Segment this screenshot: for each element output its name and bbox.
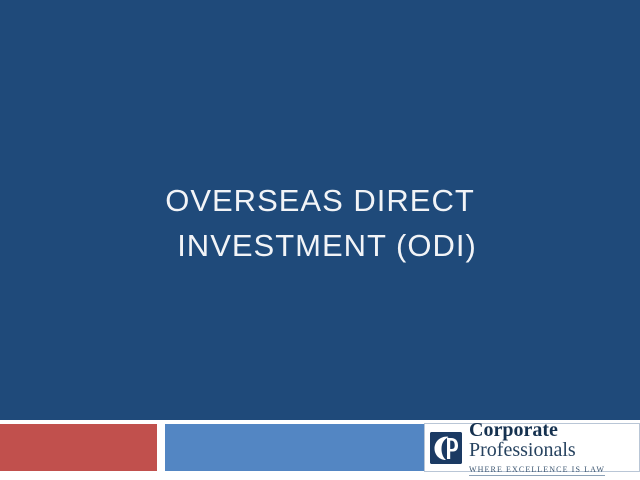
slide-title: OVERSEAS DIRECT INVESTMENT (ODI) bbox=[0, 178, 640, 268]
company-name-secondary: Professionals bbox=[469, 439, 576, 461]
company-tagline: WHERE EXCELLENCE IS LAW bbox=[469, 466, 605, 476]
title-line-1: OVERSEAS DIRECT bbox=[0, 178, 640, 223]
company-logo: Corporate Professionals WHERE EXCELLENCE… bbox=[424, 423, 640, 472]
company-logo-text: Corporate Professionals WHERE EXCELLENCE… bbox=[469, 420, 639, 476]
slide-footer: Corporate Professionals WHERE EXCELLENCE… bbox=[0, 420, 640, 480]
presentation-slide: OVERSEAS DIRECT INVESTMENT (ODI) Corpora… bbox=[0, 0, 640, 480]
footer-accent-bar-red bbox=[0, 424, 157, 471]
corporate-professionals-p-monogram-icon bbox=[430, 432, 462, 464]
title-line-2: INVESTMENT (ODI) bbox=[0, 223, 640, 268]
footer-accent-bar-blue bbox=[165, 424, 425, 471]
company-name-primary: Corporate bbox=[469, 419, 558, 441]
